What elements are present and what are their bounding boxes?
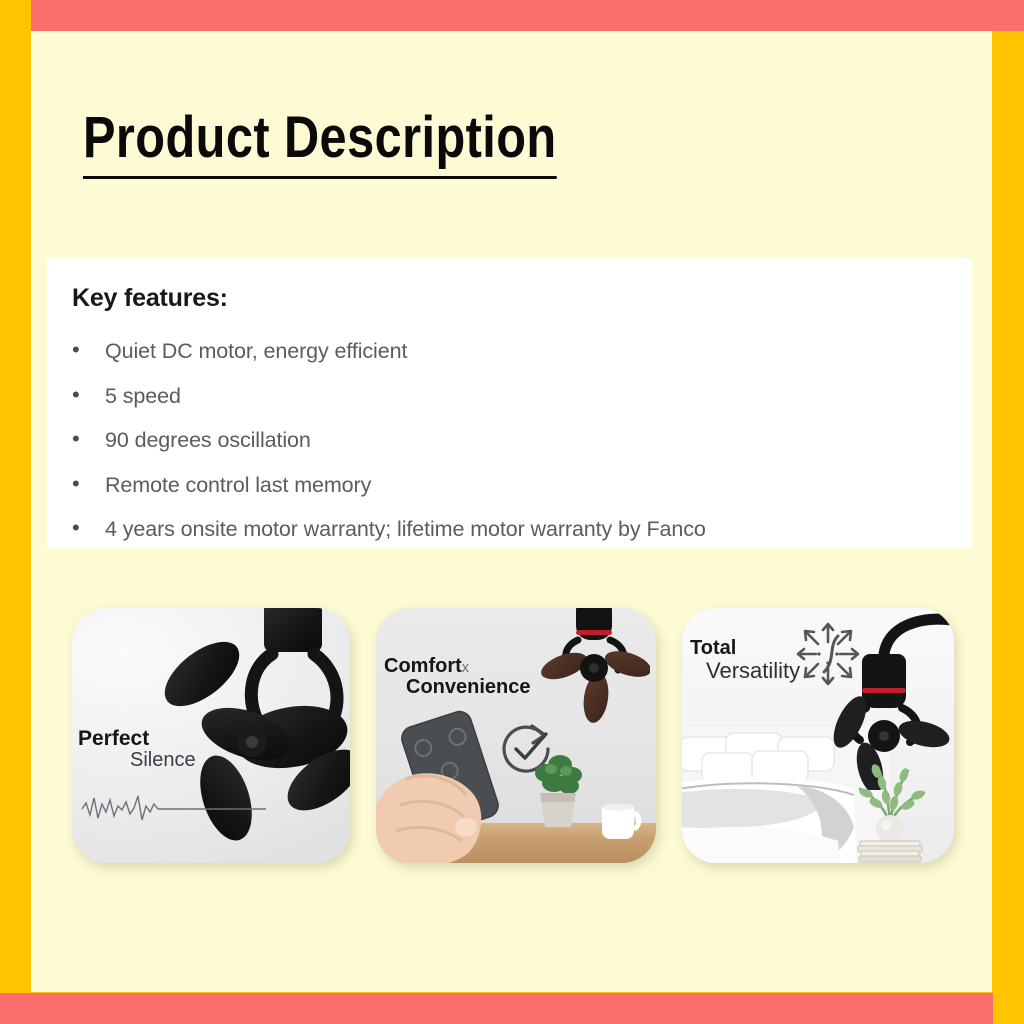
card-caption: Total Versatility xyxy=(690,638,800,683)
bottom-red-bar xyxy=(0,993,993,1024)
features-list: Quiet DC motor, energy efficient 5 speed… xyxy=(72,341,972,541)
nightstand-plant-on-books xyxy=(844,745,936,863)
card-caption: Perfect Silence xyxy=(78,728,196,771)
feature-card-comfort-convenience[interactable]: Comfortx Convenience xyxy=(376,608,656,863)
waveform-icon xyxy=(80,794,270,824)
feature-card-perfect-silence[interactable]: Perfect Silence xyxy=(72,608,350,863)
list-item: 5 speed xyxy=(72,386,972,408)
feature-card-total-versatility[interactable]: Total Versatility xyxy=(682,608,954,863)
list-item: Quiet DC motor, energy efficient xyxy=(72,341,972,363)
feature-cards-row: Perfect Silence Comfortx xyxy=(72,608,972,873)
hand-holding-remote xyxy=(376,709,548,863)
key-features-panel: Key features: Quiet DC motor, energy eff… xyxy=(47,258,972,548)
page-title: Product Description xyxy=(83,109,557,179)
multi-direction-arrows-icon xyxy=(794,620,862,688)
card-caption-line1: Total xyxy=(690,638,800,659)
card-caption-line2: Versatility xyxy=(690,659,800,682)
card-caption: Comfortx Convenience xyxy=(384,656,530,698)
list-item: Remote control last memory xyxy=(72,475,972,497)
features-heading: Key features: xyxy=(72,284,972,313)
product-description-poster: Product Description Key features: Quiet … xyxy=(0,0,1024,1024)
poster-canvas: Product Description Key features: Quiet … xyxy=(31,31,992,992)
card-caption-line2: Silence xyxy=(78,750,196,771)
card-caption-line1: Perfect xyxy=(78,728,196,750)
top-red-bar xyxy=(31,0,1024,31)
card-caption-word: Comfort xyxy=(384,655,462,677)
list-item: 90 degrees oscillation xyxy=(72,430,972,452)
card-caption-line1: Comfortx xyxy=(384,656,530,677)
ceiling-fan-illustration xyxy=(538,608,650,724)
list-item: 4 years onsite motor warranty; lifetime … xyxy=(72,519,972,541)
card-caption-line2: Convenience xyxy=(384,677,530,698)
card-caption-x: x xyxy=(462,660,469,676)
coffee-mug xyxy=(594,797,650,845)
